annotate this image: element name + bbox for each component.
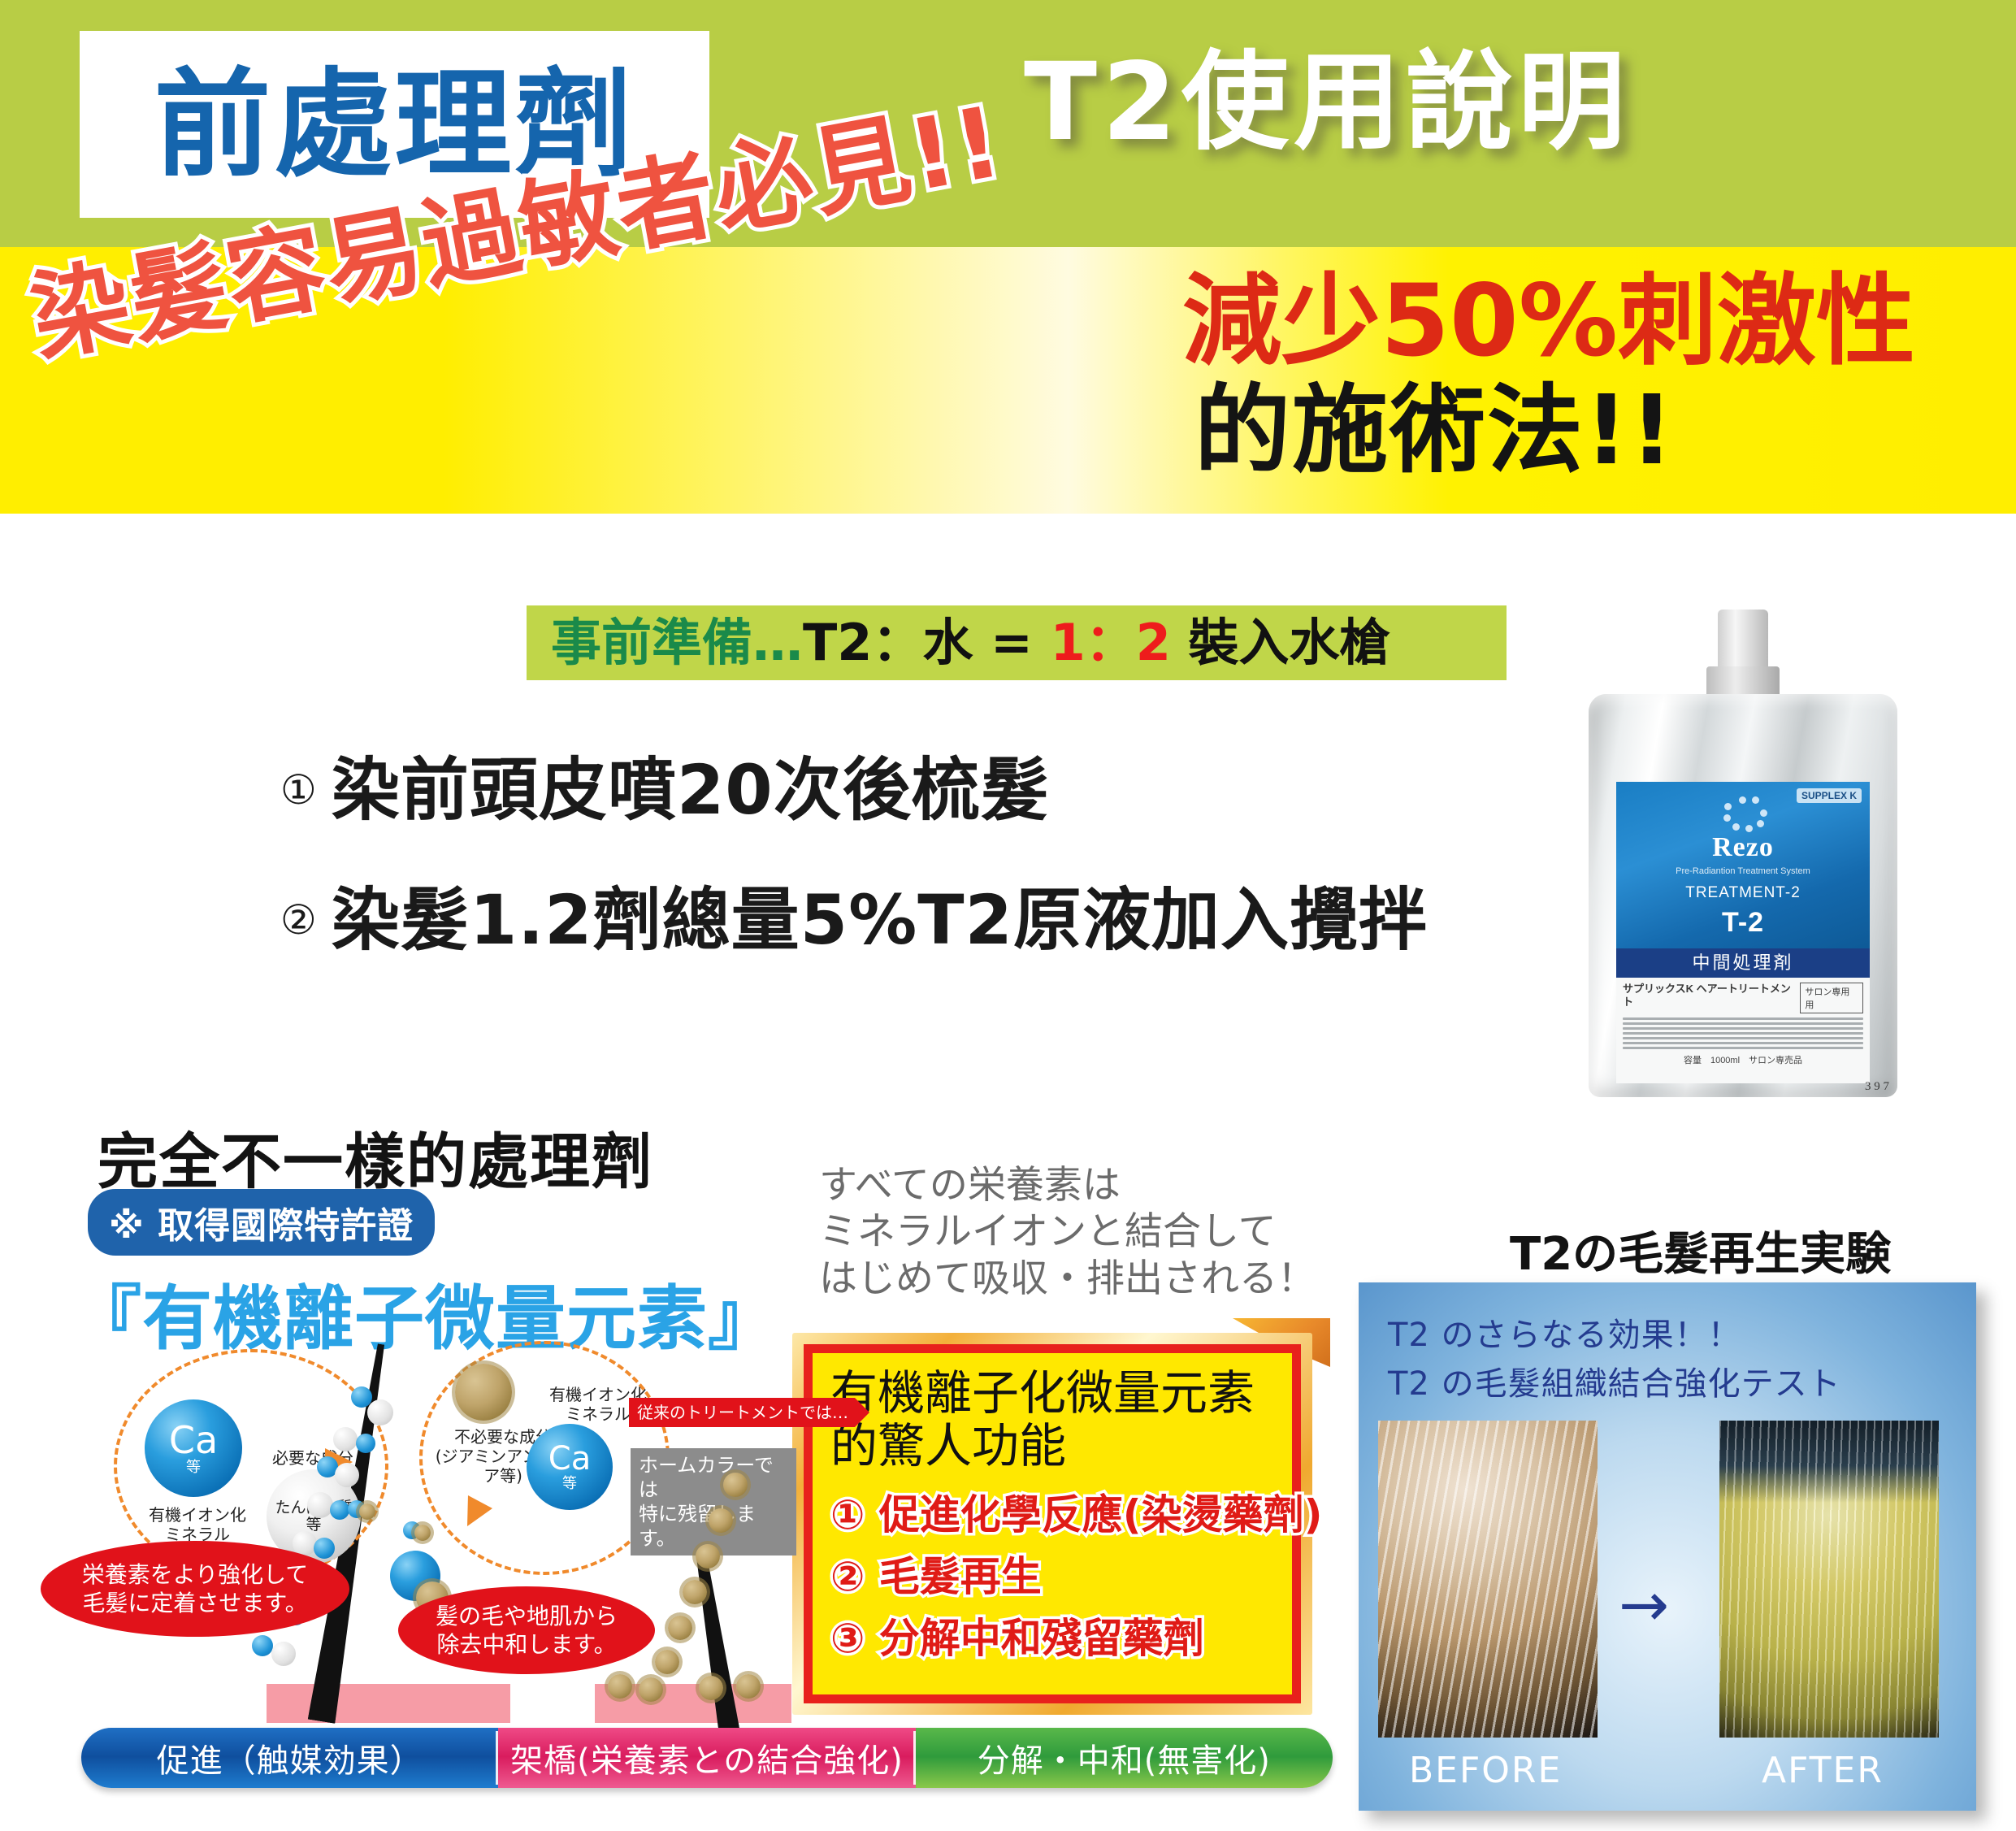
home-color-note: ホームカラーでは 特に残留します。 — [631, 1448, 796, 1555]
capsule-segment-promote: 促進（触媒効果） — [81, 1728, 498, 1788]
feature-item-1: ① 促進化學反應(染燙藥劑) — [830, 1495, 1281, 1535]
product-brand: Rezo — [1616, 832, 1870, 863]
transition-arrow-icon: → — [1619, 1575, 1669, 1635]
banner-right-line2: 的施術法!! — [1194, 382, 1676, 478]
science-diagram: Ca 等 たんぱく質 等 有機イオン化 ミネラル 必要な成分 不必要な成分 (ジ… — [49, 1349, 796, 1731]
panel-line-1: T2 のさらなる効果！！ — [1388, 1308, 1741, 1356]
impurity-spike-icon — [455, 1364, 512, 1421]
feature-box-title: 有機離子化微量元素 的驚人功能 — [830, 1368, 1281, 1473]
banner-right-line1: 減少50%刺激性 — [1182, 268, 1915, 375]
function-capsule-bar: 促進（触媒効果） 架橋(栄養素との結合強化) 分解・中和(無害化) — [81, 1728, 1333, 1788]
before-photo — [1378, 1421, 1598, 1738]
prep-label: 事前準備… — [551, 613, 803, 672]
product-treatment: TREATMENT-2 — [1616, 884, 1870, 902]
panel-line-2: T2 の毛髮組織結合強化テスト — [1388, 1357, 1841, 1404]
nutrient-note: すべての栄養素は ミネラルイオンと結合して はじめて吸収・排出される！ — [819, 1162, 1316, 1302]
pouch-info-area: サプリックスK ヘアートリートメント サロン専用用 容量 1000ml サロン専… — [1616, 978, 1870, 1083]
calcium-ball-right: Ca 等 — [527, 1424, 613, 1510]
feature-item-3: ③ 分解中和殘留藥劑 — [830, 1618, 1281, 1659]
conventional-arrow-banner: 従来のトリートメントでは… — [629, 1398, 869, 1427]
calcium-sub-right: 等 — [562, 1477, 577, 1491]
step-1-text: 染前頭皮噴20次後梳髮 — [332, 756, 1050, 824]
instruction-step-1: ① 染前頭皮噴20次後梳髮 — [280, 756, 1050, 824]
experiment-title: T2の毛髮再生実験 — [1510, 1217, 1891, 1283]
mineral-label-left: 有機イオン化 ミネラル — [137, 1505, 258, 1544]
calcium-sub-left: 等 — [186, 1460, 201, 1475]
after-photo — [1719, 1421, 1939, 1738]
ion-element-title: 『有機離子微量元素』 — [72, 1261, 778, 1363]
pouch-jp-name: サプリックスK ヘアートリートメント — [1623, 983, 1800, 1009]
salon-only-badge: サロン専用用 — [1800, 983, 1863, 1013]
product-pouch-image: SUPPLEX K Rezo Pre-Radiantion Treatment … — [1589, 610, 1897, 1097]
product-code: T-2 — [1616, 907, 1870, 939]
before-after-panel: T2 のさらなる効果！！ T2 の毛髮組織結合強化テスト → BEFORE AF… — [1359, 1282, 1976, 1811]
calcium-ball-left: Ca 等 — [145, 1399, 242, 1497]
red-oval-right: 髪の毛や地肌から 除去中和します。 — [398, 1586, 655, 1674]
step-2-text: 染髮1.2劑總量5%T2原液加入攪拌 — [332, 886, 1428, 954]
pouch-navy-band: 中間処理剤 — [1616, 948, 1870, 978]
calcium-symbol-left: Ca — [169, 1421, 218, 1459]
instruction-step-2: ② 染髮1.2劑總量5%T2原液加入攪拌 — [280, 886, 1428, 954]
red-oval-left: 栄養素をより強化して 毛髪に定着させます。 — [41, 1541, 349, 1637]
feature-box: 有機離子化微量元素 的驚人功能 ① 促進化學反應(染燙藥劑) ② 毛髮再生 ③ … — [804, 1344, 1301, 1703]
prep-tail: 裝入水槍 — [1171, 613, 1390, 672]
pouch-front-label: SUPPLEX K Rezo Pre-Radiantion Treatment … — [1616, 782, 1870, 948]
feature-box-wrapper: 有機離子化微量元素 的驚人功能 ① 促進化學反應(染燙藥劑) ② 毛髮再生 ③ … — [792, 1333, 1312, 1715]
before-label: BEFORE — [1409, 1750, 1562, 1791]
preparation-strip: 事前準備…T2：水 = 1：2 裝入水槍 — [527, 605, 1507, 680]
step-2-number: ② — [280, 896, 317, 944]
prep-formula: T2：水 = — [803, 613, 1051, 672]
prep-ratio: 1：2 — [1051, 613, 1171, 672]
feature-item-2: ② 毛髮再生 — [830, 1556, 1281, 1597]
brand-dots-icon — [1715, 796, 1771, 831]
step-1-number: ① — [280, 766, 317, 814]
pouch-volume: 容量 1000ml サロン専売品 — [1623, 1053, 1863, 1066]
supplex-mark: SUPPLEX K — [1797, 788, 1862, 803]
pouch-fine-print — [1623, 1017, 1863, 1049]
different-treatment-heading: 完全不一樣的處理劑 — [98, 1113, 653, 1200]
poster-root: 前處理劑 T2使用說明 染髮容易過敏者必見!! 減少50%刺激性 的施術法!! … — [0, 0, 2016, 1831]
capsule-segment-neutralize: 分解・中和(無害化) — [916, 1728, 1333, 1788]
after-label: AFTER — [1762, 1750, 1884, 1791]
calcium-symbol-right: Ca — [548, 1443, 591, 1475]
scalp-left — [267, 1684, 510, 1723]
page-title: T2使用說明 — [1024, 49, 1630, 156]
patent-badge: ※ 取得國際特許證 — [88, 1189, 435, 1256]
product-tagline: Pre-Radiantion Treatment System — [1616, 866, 1870, 876]
pouch-lot-number: 3 9 7 — [1865, 1080, 1889, 1094]
capsule-segment-bridge: 架橋(栄養素との結合強化) — [498, 1728, 915, 1788]
